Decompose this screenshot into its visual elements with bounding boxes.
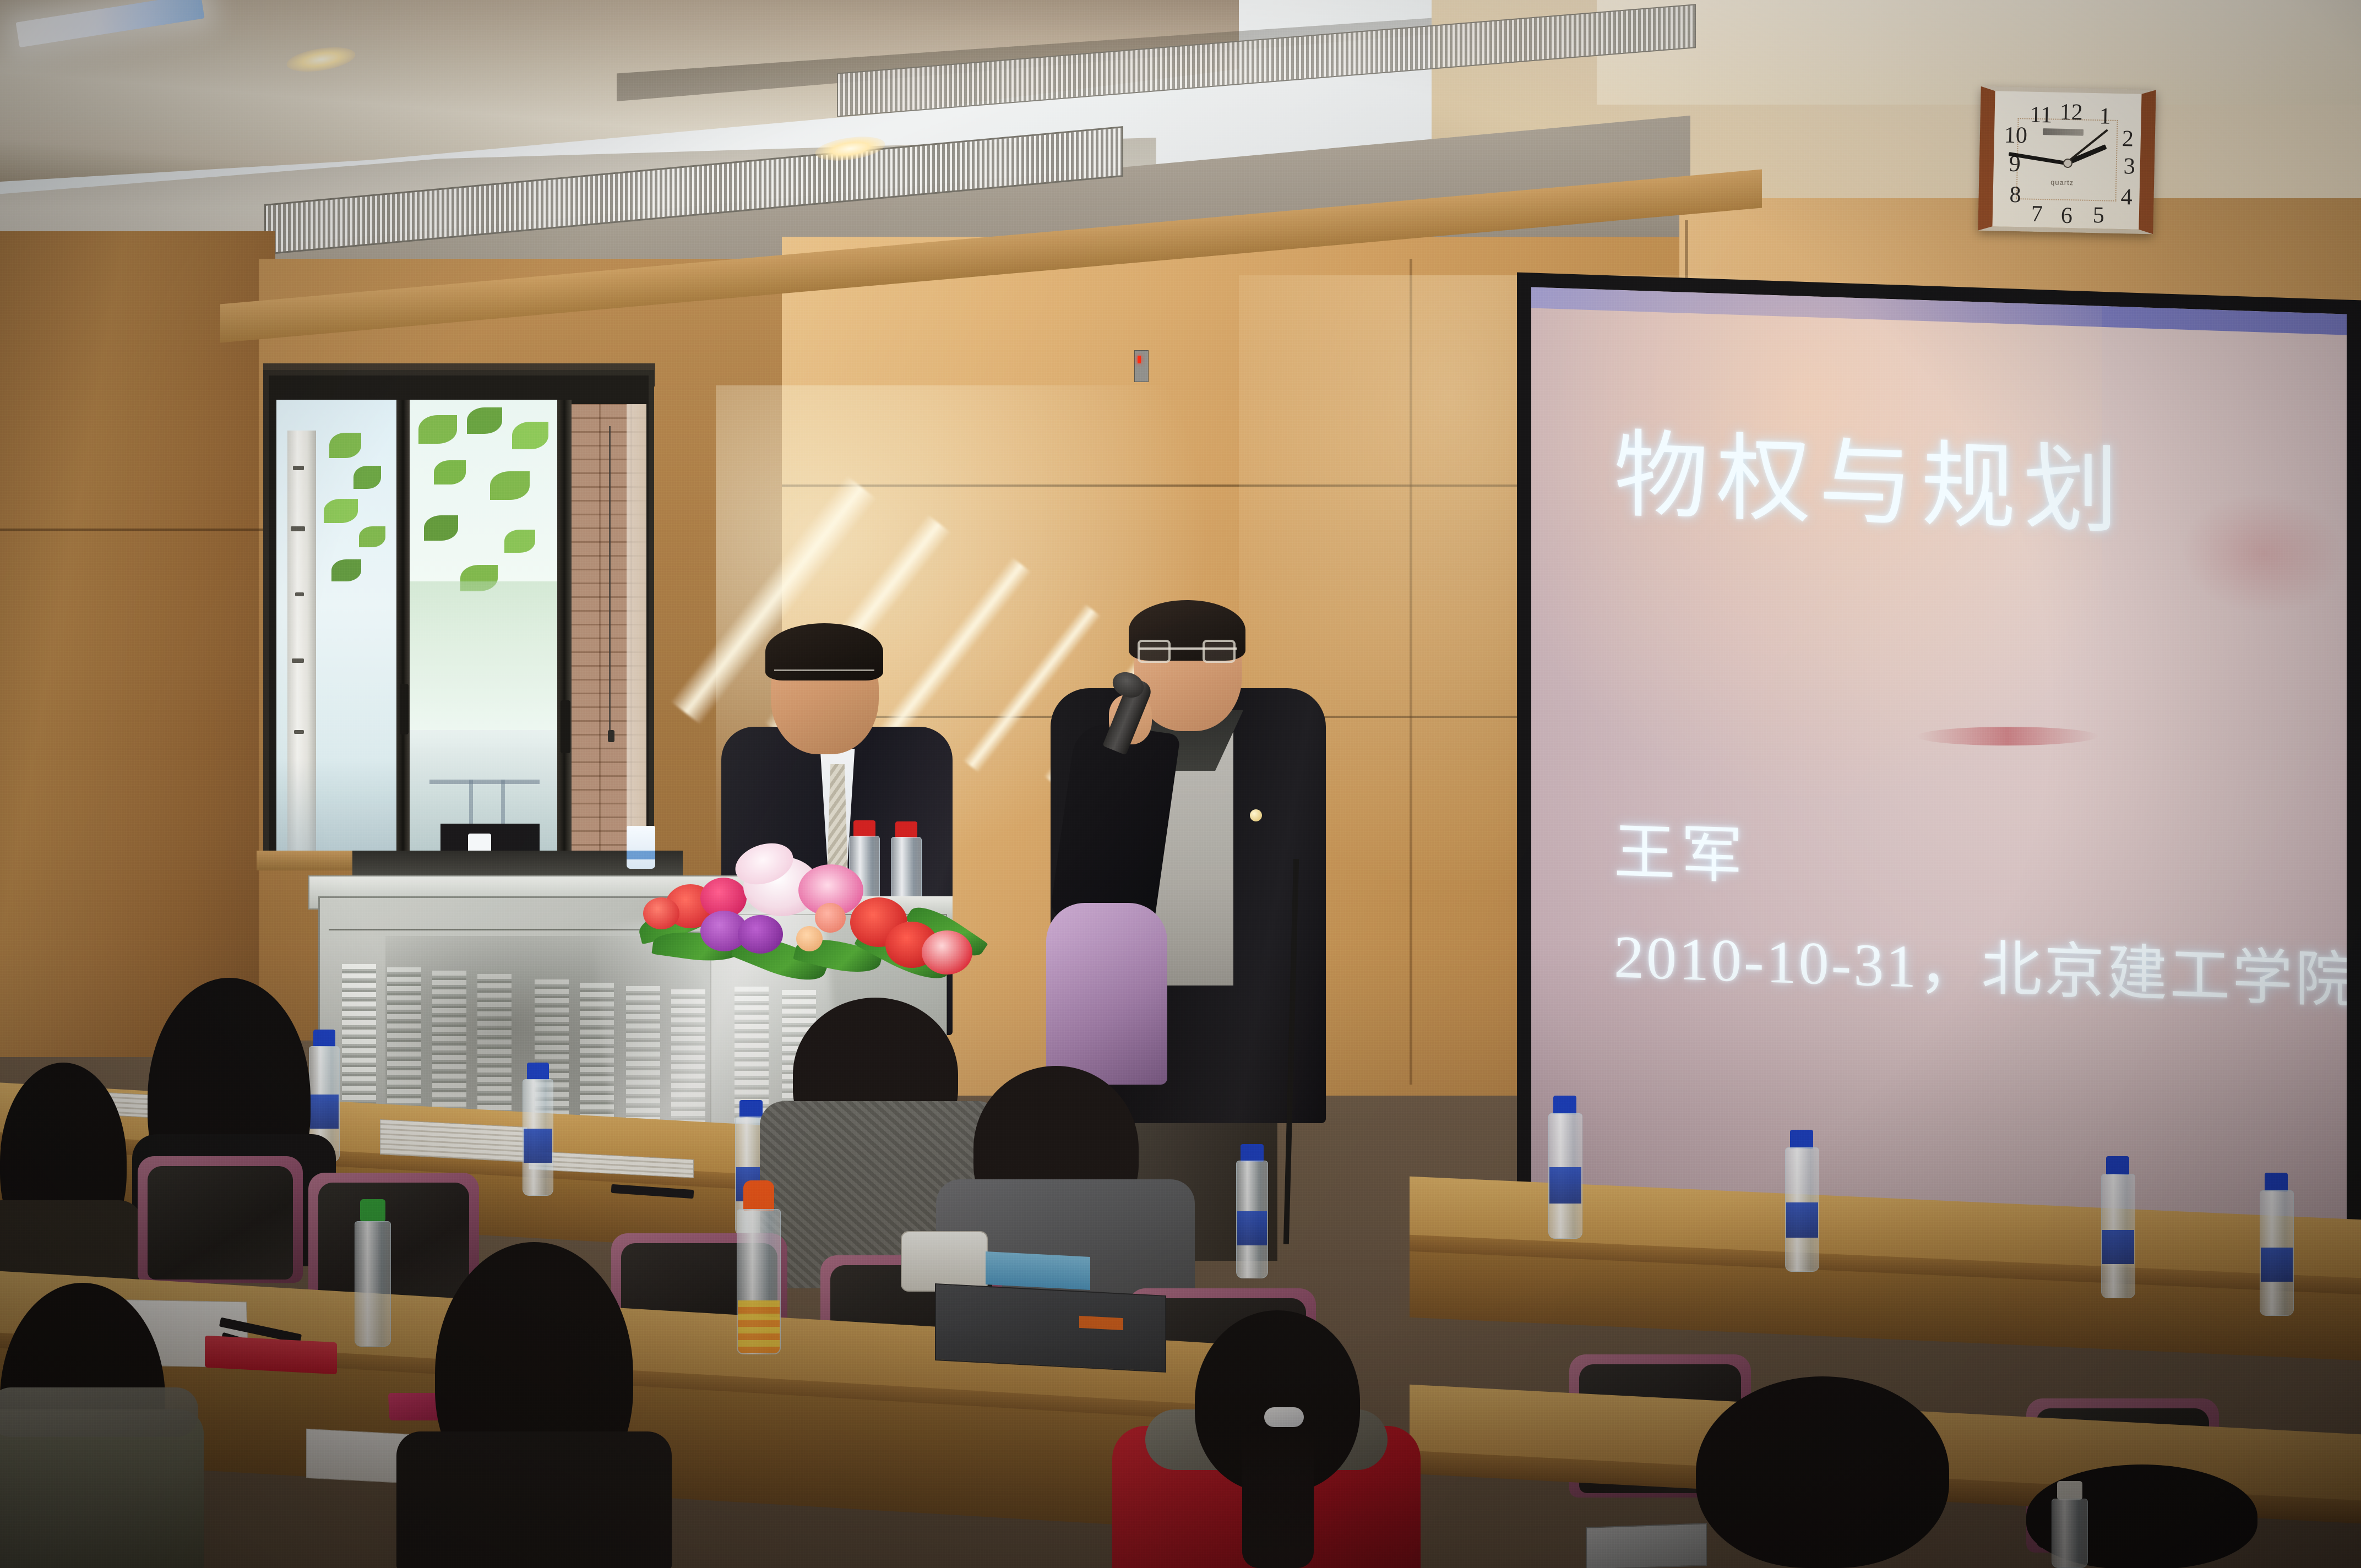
thermos-bottle [352,1199,394,1347]
clock-quartz-label: quartz [2050,178,2074,187]
water-bottle [2256,1173,2297,1316]
window-handle[interactable] [400,684,409,734]
flower-arrangement [643,825,984,1006]
led-indicator-icon [1138,356,1141,363]
photo-scene: 物权与规划 王军 2010-10-31，北京建工学院 quartz 12 1 2… [0,0,2361,1568]
screen-scuff-mark [2181,491,2346,617]
laptop[interactable] [1586,1523,1707,1568]
clock-numeral-11: 11 [2030,102,2052,129]
empty-chair[interactable] [1046,903,1167,1085]
round-container [901,1231,988,1292]
wood-wall-left [0,231,275,1057]
water-bottle [1545,1096,1586,1239]
clock-numeral-2: 2 [2121,126,2134,152]
clock-face: quartz 12 1 2 3 4 5 6 7 8 9 10 11 [1992,91,2141,230]
slide-author: 王军 [1614,802,1748,895]
hair-clip [1264,1407,1304,1427]
water-bottle [1233,1144,1271,1278]
ceiling-right-highlight [1597,0,2361,105]
window-pane-left [276,400,399,858]
thermos-bottle [733,1180,785,1354]
slide-title: 物权与规划 [1614,397,2126,552]
screen-surface: 物权与规划 王军 2010-10-31，北京建工学院 [1531,287,2347,1299]
blue-folder [986,1251,1090,1290]
water-bottle [2048,1481,2091,1568]
wall-panel-seam [0,529,264,531]
clock-numeral-6: 6 [2060,203,2072,229]
flower-rosebud [796,926,823,951]
clock-numeral-5: 5 [2092,202,2104,228]
wall-sensor-device [1134,350,1149,382]
flower-gerbera-red [643,897,679,929]
chair[interactable] [138,1156,303,1283]
book-spine-accent [1079,1316,1123,1330]
window-frame[interactable] [263,370,654,865]
window-pane-right [569,404,646,858]
flower-carnation [922,930,972,974]
flower-rosebud [815,903,846,933]
host-hair [765,623,883,680]
ponytail [1242,1420,1314,1568]
clock-numeral-8: 8 [2009,182,2021,208]
lapel-pin-icon [1250,809,1262,821]
water-bottle [1782,1130,1823,1272]
clock-numeral-7: 7 [2031,201,2043,227]
wall-clock: quartz 12 1 2 3 4 5 6 7 8 9 10 11 [1978,86,2156,235]
water-bottle [2098,1156,2139,1298]
speaker-glasses-icon [1139,647,1237,651]
clock-numeral-12: 12 [2059,99,2083,126]
window-mullion [557,400,572,858]
clock-brand-mark [2043,128,2083,136]
projection-screen: 物权与规划 王军 2010-10-31，北京建工学院 [1517,273,2361,1330]
clock-numeral-4: 4 [2120,184,2132,210]
window-pane-center [407,400,561,858]
host-glasses-icon [774,669,874,672]
window-mullion [396,400,410,858]
book-dark [935,1283,1166,1373]
window-handle[interactable] [561,700,570,753]
flower-orchid-purple [738,915,783,954]
water-bottle [520,1063,556,1196]
clock-numeral-1: 1 [2099,103,2111,129]
clock-numeral-10: 10 [2004,122,2027,149]
fur-collar [0,1387,198,1437]
clock-numeral-3: 3 [2123,153,2135,179]
slide-date-and-place: 2010-10-31，北京建工学院 [1614,906,2347,1019]
